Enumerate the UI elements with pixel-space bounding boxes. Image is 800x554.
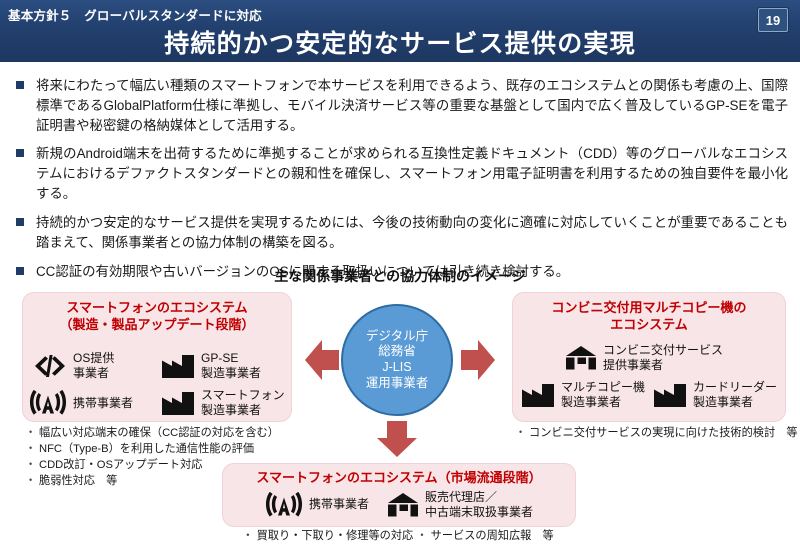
- factory-icon: [161, 353, 195, 379]
- central-authority-label: デジタル庁 総務省 J-LIS 運用事業者: [366, 329, 429, 392]
- list-item-label: 携帯事業者: [309, 497, 369, 512]
- list-item-label: コンビニ交付サービス 提供事業者: [603, 343, 723, 372]
- sub-bullet: 幅広い対応端末の確保（CC認証の対応を含む）: [26, 426, 279, 442]
- diagram-title: 主な関係事業者との協力体制のイメージ: [0, 266, 800, 286]
- right-ecosystem-items: コンビニ交付サービス 提供事業者 マルチコピー機 製造事業者 カードリーダー 製…: [513, 343, 785, 410]
- storefront-icon: [387, 492, 419, 518]
- list-item-label: マルチコピー機 製造事業者: [561, 380, 645, 409]
- list-item: カードリーダー 製造事業者: [653, 380, 785, 409]
- list-item: 携帯事業者: [265, 490, 369, 519]
- cooperation-diagram: 主な関係事業者との協力体制のイメージ スマートフォンのエコシステム （製造・製品…: [0, 266, 800, 554]
- list-item: OS提供 事業者: [23, 351, 161, 380]
- slide: 基本方針５ グローバルスタンダードに対応 持続的かつ安定的なサービス提供の実現 …: [0, 0, 800, 554]
- list-item: GP-SE 製造事業者: [161, 351, 291, 380]
- bullet-text: 新規のAndroid端末を出荷するために準拠することが求められる互換性定義ドキュ…: [36, 146, 788, 201]
- list-item-label: GP-SE 製造事業者: [201, 351, 261, 380]
- list-item-label: カードリーダー 製造事業者: [693, 380, 777, 409]
- storefront-icon: [565, 345, 597, 371]
- antenna-icon: [265, 492, 303, 518]
- bullet-item: 新規のAndroid端末を出荷するために準拠することが求められる互換性定義ドキュ…: [14, 144, 788, 203]
- arrow-down-icon: [373, 421, 421, 457]
- bullet-square-icon: [16, 149, 24, 157]
- list-item: 販売代理店／ 中古端末取扱事業者: [387, 490, 533, 519]
- bottom-sub-bullets: 買取り・下取り・修理等の対応 サービスの周知広報 等: [222, 529, 574, 545]
- bullet-item: 持続的かつ安定的なサービス提供を実現するためには、今後の技術動向の変化に適確に対…: [14, 213, 788, 253]
- arrow-left-icon: [305, 336, 339, 384]
- slide-header: 基本方針５ グローバルスタンダードに対応 持続的かつ安定的なサービス提供の実現 …: [0, 0, 800, 62]
- list-item: コンビニ交付サービス 提供事業者: [513, 343, 785, 372]
- code-brackets-icon: [33, 353, 67, 379]
- right-manufacturer-row: マルチコピー機 製造事業者 カードリーダー 製造事業者: [513, 380, 785, 409]
- central-authority-circle: デジタル庁 総務省 J-LIS 運用事業者: [341, 304, 453, 416]
- sub-bullet: コンビニ交付サービスの実現に向けた技術的検討 等: [516, 426, 798, 442]
- left-ecosystem-items: OS提供 事業者 GP-SE 製造事業者: [23, 351, 291, 418]
- page-title: 持続的かつ安定的なサービス提供の実現: [0, 24, 800, 60]
- list-item: スマートフォン 製造事業者: [161, 388, 291, 417]
- list-item-label: 販売代理店／ 中古端末取扱事業者: [425, 490, 533, 519]
- factory-icon: [521, 382, 555, 408]
- list-item-label: スマートフォン 製造事業者: [201, 388, 285, 417]
- list-item-label: 携帯事業者: [73, 396, 133, 411]
- bullet-text: 持続的かつ安定的なサービス提供を実現するためには、今後の技術動向の変化に適確に対…: [36, 215, 788, 250]
- factory-icon: [653, 382, 687, 408]
- bullet-square-icon: [16, 218, 24, 226]
- bottom-ecosystem-box: スマートフォンのエコシステム（市場流通段階） 携帯事業者: [222, 463, 576, 527]
- bullet-list: 将来にわたって幅広い種類のスマートフォンで本サービスを利用できるよう、既存のエコ…: [14, 76, 788, 290]
- antenna-icon: [29, 390, 67, 416]
- bullet-text: 将来にわたって幅広い種類のスマートフォンで本サービスを利用できるよう、既存のエコ…: [36, 78, 788, 133]
- bullet-item: 将来にわたって幅広い種類のスマートフォンで本サービスを利用できるよう、既存のエコ…: [14, 76, 788, 135]
- header-eyebrow: 基本方針５ グローバルスタンダードに対応: [8, 5, 262, 24]
- bottom-ecosystem-items: 携帯事業者 販売代理店／ 中古端末取扱事業者: [223, 490, 575, 519]
- factory-icon: [161, 390, 195, 416]
- right-ecosystem-title: コンビニ交付用マルチコピー機の エコシステム: [513, 293, 785, 333]
- arrow-right-icon: [461, 336, 495, 384]
- list-item: マルチコピー機 製造事業者: [513, 380, 653, 409]
- sub-bullet: サービスの周知広報 等: [416, 530, 553, 542]
- left-ecosystem-title: スマートフォンのエコシステム （製造・製品アップデート段階）: [23, 293, 291, 333]
- bottom-ecosystem-title: スマートフォンのエコシステム（市場流通段階）: [223, 464, 575, 487]
- list-item: 携帯事業者: [23, 388, 161, 417]
- page-number-badge: 19: [758, 8, 788, 32]
- list-item-label: OS提供 事業者: [73, 351, 114, 380]
- sub-bullet: 買取り・下取り・修理等の対応: [242, 530, 413, 542]
- left-ecosystem-box: スマートフォンのエコシステム （製造・製品アップデート段階） OS提供 事業者 …: [22, 292, 292, 422]
- right-ecosystem-box: コンビニ交付用マルチコピー機の エコシステム コンビニ交付サービス 提供事業者: [512, 292, 786, 422]
- sub-bullet: NFC（Type-B）を利用した通信性能の評価: [26, 442, 279, 458]
- right-sub-bullets: コンビニ交付サービスの実現に向けた技術的検討 等: [516, 426, 798, 442]
- bullet-square-icon: [16, 81, 24, 89]
